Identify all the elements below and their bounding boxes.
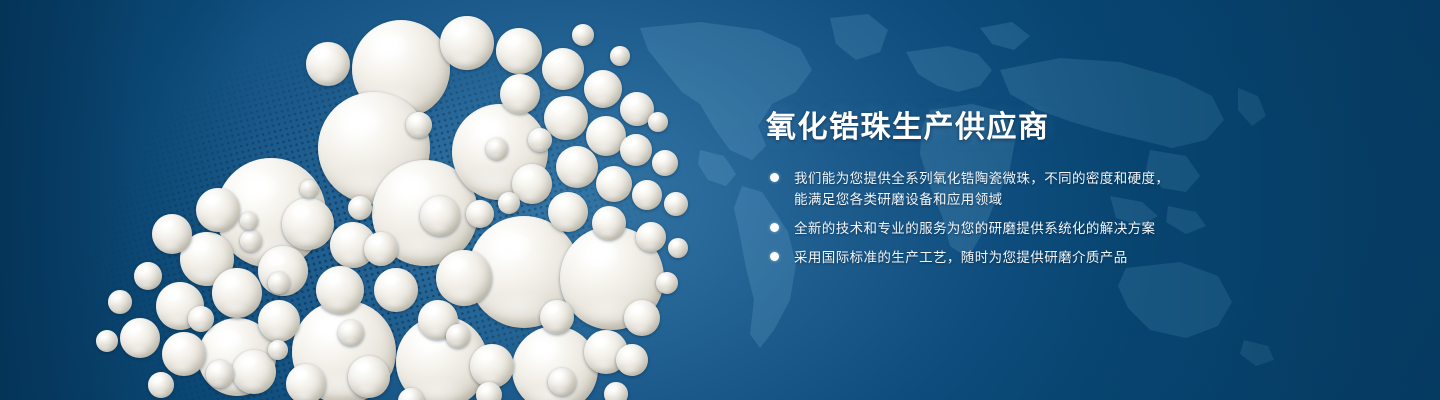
bullet-line-2: 能满足您各类研磨设备和应用领域 xyxy=(794,189,1234,210)
banner-headline: 氧化锆珠生产供应商 xyxy=(766,110,1050,146)
bullet-line-1: 我们能为您提供全系列氧化锆陶瓷微珠，不同的密度和硬度， xyxy=(794,171,1169,186)
banner-content: 氧化锆珠生产供应商 我们能为您提供全系列氧化锆陶瓷微珠，不同的密度和硬度， 能满… xyxy=(764,0,1364,400)
bullet-dot-icon xyxy=(770,252,779,261)
zirconia-bead-cluster xyxy=(0,0,760,400)
bullet-text: 全新的技术和专业的服务为您的研磨提供系统化的解决方案 xyxy=(794,218,1234,239)
bullet-dot-icon xyxy=(770,173,779,182)
bullet-text: 我们能为您提供全系列氧化锆陶瓷微珠，不同的密度和硬度， 能满足您各类研磨设备和应… xyxy=(794,168,1234,210)
hero-banner: 氧化锆珠生产供应商 我们能为您提供全系列氧化锆陶瓷微珠，不同的密度和硬度， 能满… xyxy=(0,0,1440,400)
bullet-line-1: 采用国际标准的生产工艺，随时为您提供研磨介质产品 xyxy=(794,250,1128,265)
banner-bullet-list: 我们能为您提供全系列氧化锆陶瓷微珠，不同的密度和硬度， 能满足您各类研磨设备和应… xyxy=(764,168,1234,276)
bullet-text: 采用国际标准的生产工艺，随时为您提供研磨介质产品 xyxy=(794,247,1234,268)
bullet-dot-icon xyxy=(770,223,779,232)
list-item: 我们能为您提供全系列氧化锆陶瓷微珠，不同的密度和硬度， 能满足您各类研磨设备和应… xyxy=(764,168,1234,210)
bullet-line-1: 全新的技术和专业的服务为您的研磨提供系统化的解决方案 xyxy=(794,221,1155,236)
list-item: 采用国际标准的生产工艺，随时为您提供研磨介质产品 xyxy=(764,247,1234,268)
list-item: 全新的技术和专业的服务为您的研磨提供系统化的解决方案 xyxy=(764,218,1234,239)
